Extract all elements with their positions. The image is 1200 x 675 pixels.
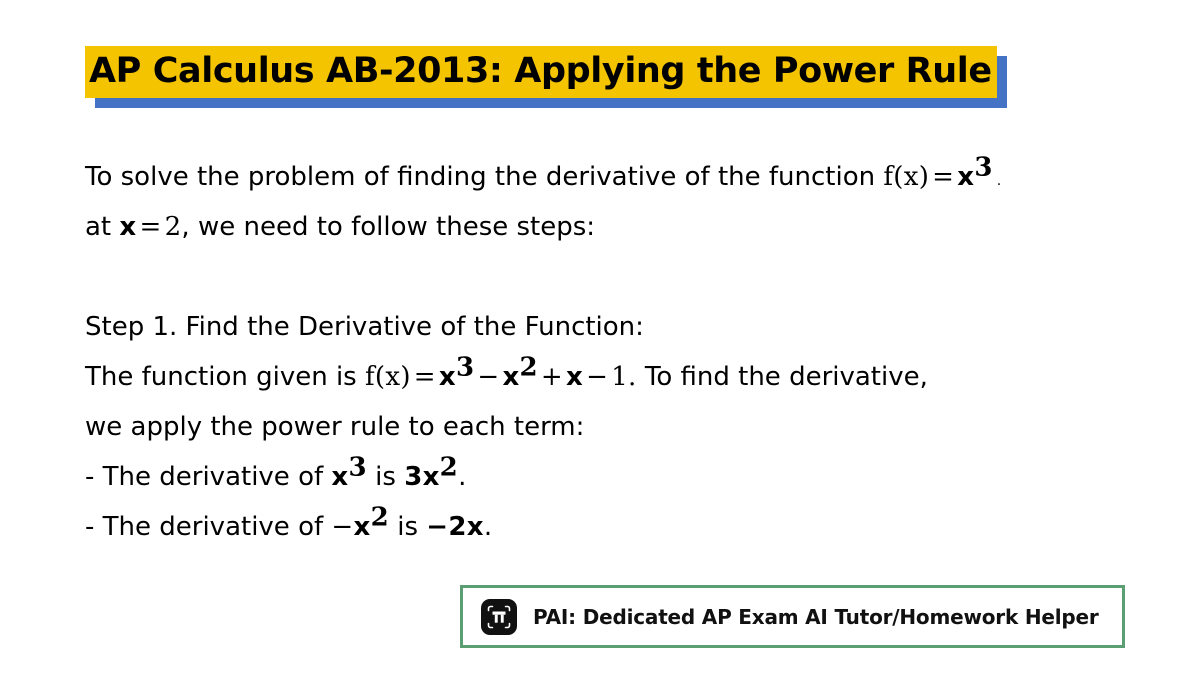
bullet-2-term-base: x [353,512,370,542]
slide-title-banner: AP Calculus AB-2013: Applying the Power … [85,46,997,98]
slide-body: To solve the problem of finding the deri… [85,152,1185,552]
intro-fx: f(x) [883,162,929,192]
footer-badge-label: PAI: Dedicated AP Exam AI Tutor/Homework… [533,605,1099,629]
bullet-1-tail: . [458,462,466,492]
intro-equals: = [929,162,957,192]
step-1-lead: The function given is [85,362,365,392]
intro-trailing-dot: . [993,173,1001,189]
bullet-1-mid: is [367,462,404,492]
intro-line-2-tail: , we need to follow these steps: [181,212,595,242]
footer-branding-badge: PAI: Dedicated AP Exam AI Tutor/Homework… [460,585,1125,648]
step-1-equals: = [411,362,439,392]
bullet-1-term-exponent: 3 [348,452,366,482]
step-1-line-1: The function given is f(x)=x3−x2+x−1. To… [85,352,1185,402]
bullet-2-mid: is [389,512,426,542]
step-1-term3: x [566,362,583,392]
bullet-1-lead: - The derivative of [85,462,331,492]
bullet-2-term-exponent: 2 [371,502,389,532]
derivative-bullet-1: - The derivative of x3 is 3x2. [85,452,1185,502]
intro-line-1-text: To solve the problem of finding the deri… [85,162,883,192]
bullet-2-result-base: −2x [426,512,484,542]
step-1-term1-exponent: 3 [456,352,474,382]
intro-line-2-x: x [119,212,136,242]
page-title: AP Calculus AB-2013: Applying the Power … [89,46,997,98]
bullet-2-term-sign: − [331,512,353,542]
step-1-term2-exponent: 2 [520,352,538,382]
step-1-operator-3: − [583,362,611,392]
step-1-term1-base: x [439,362,456,392]
intro-line-2-value: 2 [165,212,182,242]
intro-x-base: x [957,162,974,192]
step-1-operator-2: + [538,362,566,392]
slide-canvas: AP Calculus AB-2013: Applying the Power … [0,0,1200,675]
bullet-1-result-base: 3x [404,462,439,492]
step-1-line-1-tail: To find the derivative, [637,362,928,392]
intro-line-1: To solve the problem of finding the deri… [85,152,1185,202]
intro-line-2-equals: = [136,212,164,242]
bullet-1-term-base: x [331,462,348,492]
intro-line-2: at x=2, we need to follow these steps: [85,202,1185,252]
step-1-operator-1: − [474,362,502,392]
body-spacer [85,252,1185,302]
intro-line-2-lead: at [85,212,119,242]
step-1-term2-base: x [502,362,519,392]
bullet-2-lead: - The derivative of [85,512,331,542]
intro-x-exponent: 3 [974,152,992,182]
bullet-2-tail: . [484,512,492,542]
derivative-bullet-2: - The derivative of −x2 is −2x. [85,502,1185,552]
pi-logo-icon [481,599,517,635]
bullet-1-result-exponent: 2 [440,452,458,482]
step-1-line-2: we apply the power rule to each term: [85,402,1185,452]
step-1-term4: 1. [611,362,636,392]
step-1-fx: f(x) [365,362,411,392]
step-1-heading: Step 1. Find the Derivative of the Funct… [85,302,1185,352]
